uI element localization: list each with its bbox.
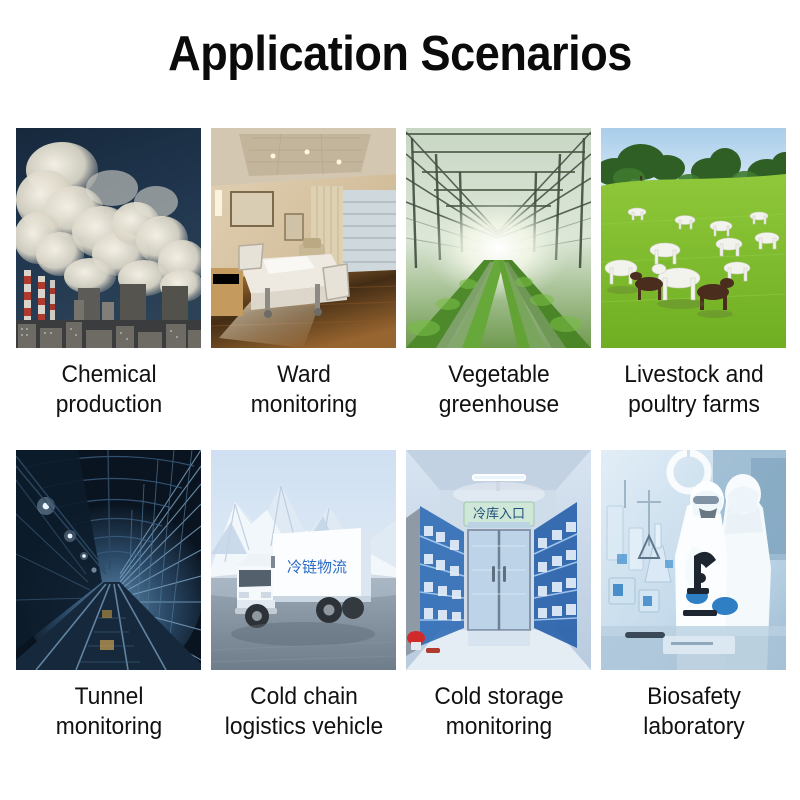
scenario-tile-cold-storage-monitoring[interactable]: 冷库入口 bbox=[406, 450, 591, 742]
caption-line-1: Cold chain bbox=[210, 682, 396, 712]
caption-line-2: monitoring bbox=[210, 390, 396, 420]
caption-line-2: poultry farms bbox=[600, 390, 786, 420]
chemical-plant-smokestacks-photo bbox=[16, 128, 201, 348]
scenario-caption: Ward monitoring bbox=[210, 360, 396, 420]
scenario-tile-livestock-poultry-farms[interactable]: Livestock and poultry farms bbox=[601, 128, 786, 420]
scenario-tile-ward-monitoring[interactable]: Ward monitoring bbox=[211, 128, 396, 420]
cold-storage-room-shelves-photo: 冷库入口 bbox=[406, 450, 591, 670]
caption-line-2: greenhouse bbox=[405, 390, 591, 420]
caption-line-2: laboratory bbox=[600, 712, 786, 742]
refrigerated-truck-snow-mountain-photo: 冷链物流 bbox=[211, 450, 396, 670]
caption-line-2: logistics vehicle bbox=[210, 712, 396, 742]
scenario-tile-biosafety-laboratory[interactable]: Biosafety laboratory bbox=[601, 450, 786, 742]
scenario-tile-vegetable-greenhouse[interactable]: Vegetable greenhouse bbox=[406, 128, 591, 420]
scenario-caption: Cold chain logistics vehicle bbox=[210, 682, 396, 742]
scenario-caption: Cold storage monitoring bbox=[405, 682, 591, 742]
scenario-caption: Livestock and poultry farms bbox=[600, 360, 786, 420]
scenario-row-2: Tunnel monitoring bbox=[16, 450, 786, 742]
cold-storage-sign-text: 冷库入口 bbox=[473, 506, 525, 522]
scenario-caption: Vegetable greenhouse bbox=[405, 360, 591, 420]
scenario-caption: Biosafety laboratory bbox=[600, 682, 786, 742]
caption-line-1: Tunnel bbox=[15, 682, 201, 712]
scientists-hazmat-suits-lab-photo bbox=[601, 450, 786, 670]
caption-line-2: production bbox=[15, 390, 201, 420]
truck-body-text: 冷链物流 bbox=[287, 558, 347, 576]
scenario-row-1: Chemical production bbox=[16, 128, 786, 420]
page-title: Application Scenarios bbox=[32, 26, 768, 82]
scenario-tile-tunnel-monitoring[interactable]: Tunnel monitoring bbox=[16, 450, 201, 742]
caption-line-2: monitoring bbox=[405, 712, 591, 742]
scenario-caption: Chemical production bbox=[15, 360, 201, 420]
hospital-ward-room-photo bbox=[211, 128, 396, 348]
application-scenarios-page: Application Scenarios bbox=[0, 0, 800, 800]
scenario-caption: Tunnel monitoring bbox=[15, 682, 201, 742]
caption-line-2: monitoring bbox=[15, 712, 201, 742]
scenario-tile-chemical-production[interactable]: Chemical production bbox=[16, 128, 201, 420]
greenhouse-interior-crop-rows-photo bbox=[406, 128, 591, 348]
scenario-tile-cold-chain-logistics-vehicle[interactable]: 冷链物流 bbox=[211, 450, 396, 742]
caption-line-1: Chemical bbox=[15, 360, 201, 390]
cattle-on-green-pasture-photo bbox=[601, 128, 786, 348]
caption-line-1: Ward bbox=[210, 360, 396, 390]
dark-blue-tunnel-interior-photo bbox=[16, 450, 201, 670]
caption-line-1: Vegetable bbox=[405, 360, 591, 390]
caption-line-1: Biosafety bbox=[600, 682, 786, 712]
caption-line-1: Livestock and bbox=[600, 360, 786, 390]
caption-line-1: Cold storage bbox=[405, 682, 591, 712]
